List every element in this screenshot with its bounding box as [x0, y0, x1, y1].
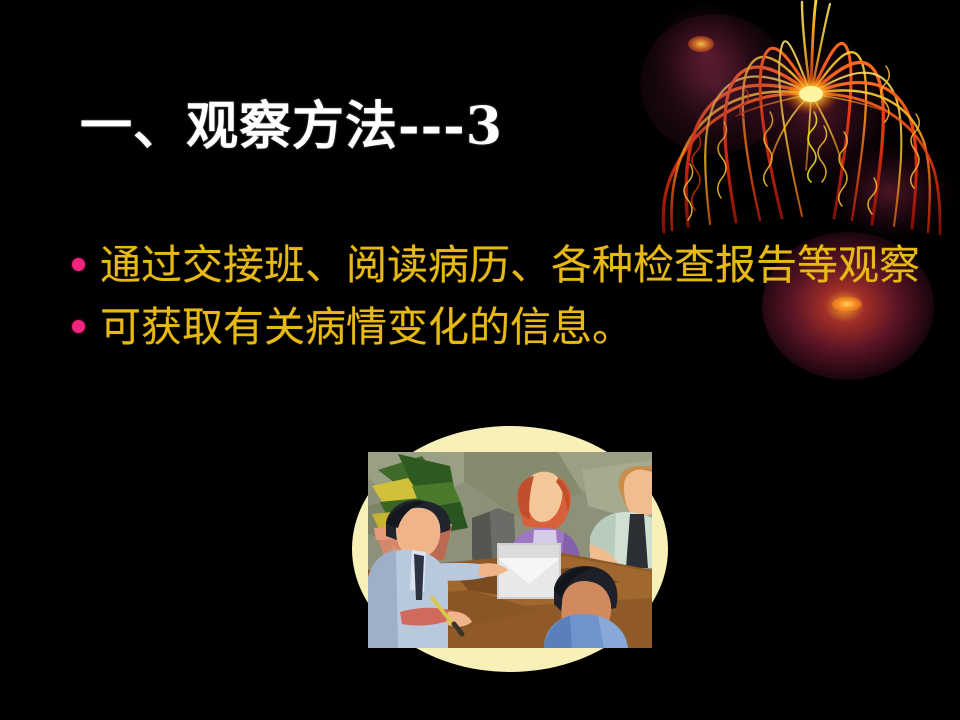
bullet-list: 通过交接班、阅读病历、各种检查报告等观察 可获取有关病情变化的信息。 — [72, 238, 922, 362]
bullet-marker — [72, 300, 100, 333]
meeting-clipart — [352, 426, 668, 672]
fireworks-upper-glow-core — [688, 36, 714, 52]
bullet-dot-icon — [72, 258, 85, 271]
clipart-scene — [368, 452, 652, 648]
list-item: 可获取有关病情变化的信息。 — [72, 300, 922, 354]
list-item: 通过交接班、阅读病历、各种检查报告等观察 — [72, 238, 922, 292]
bullet-marker — [72, 238, 100, 271]
bullet-text: 可获取有关病情变化的信息。 — [100, 300, 922, 354]
bullet-dot-icon — [72, 320, 85, 333]
slide-canvas: 一、观察方法---3 通过交接班、阅读病历、各种检查报告等观察 可获取有关病情变… — [0, 0, 960, 720]
bullet-text: 通过交接班、阅读病历、各种检查报告等观察 — [100, 238, 922, 292]
slide-title: 一、观察方法---3 — [80, 98, 680, 156]
